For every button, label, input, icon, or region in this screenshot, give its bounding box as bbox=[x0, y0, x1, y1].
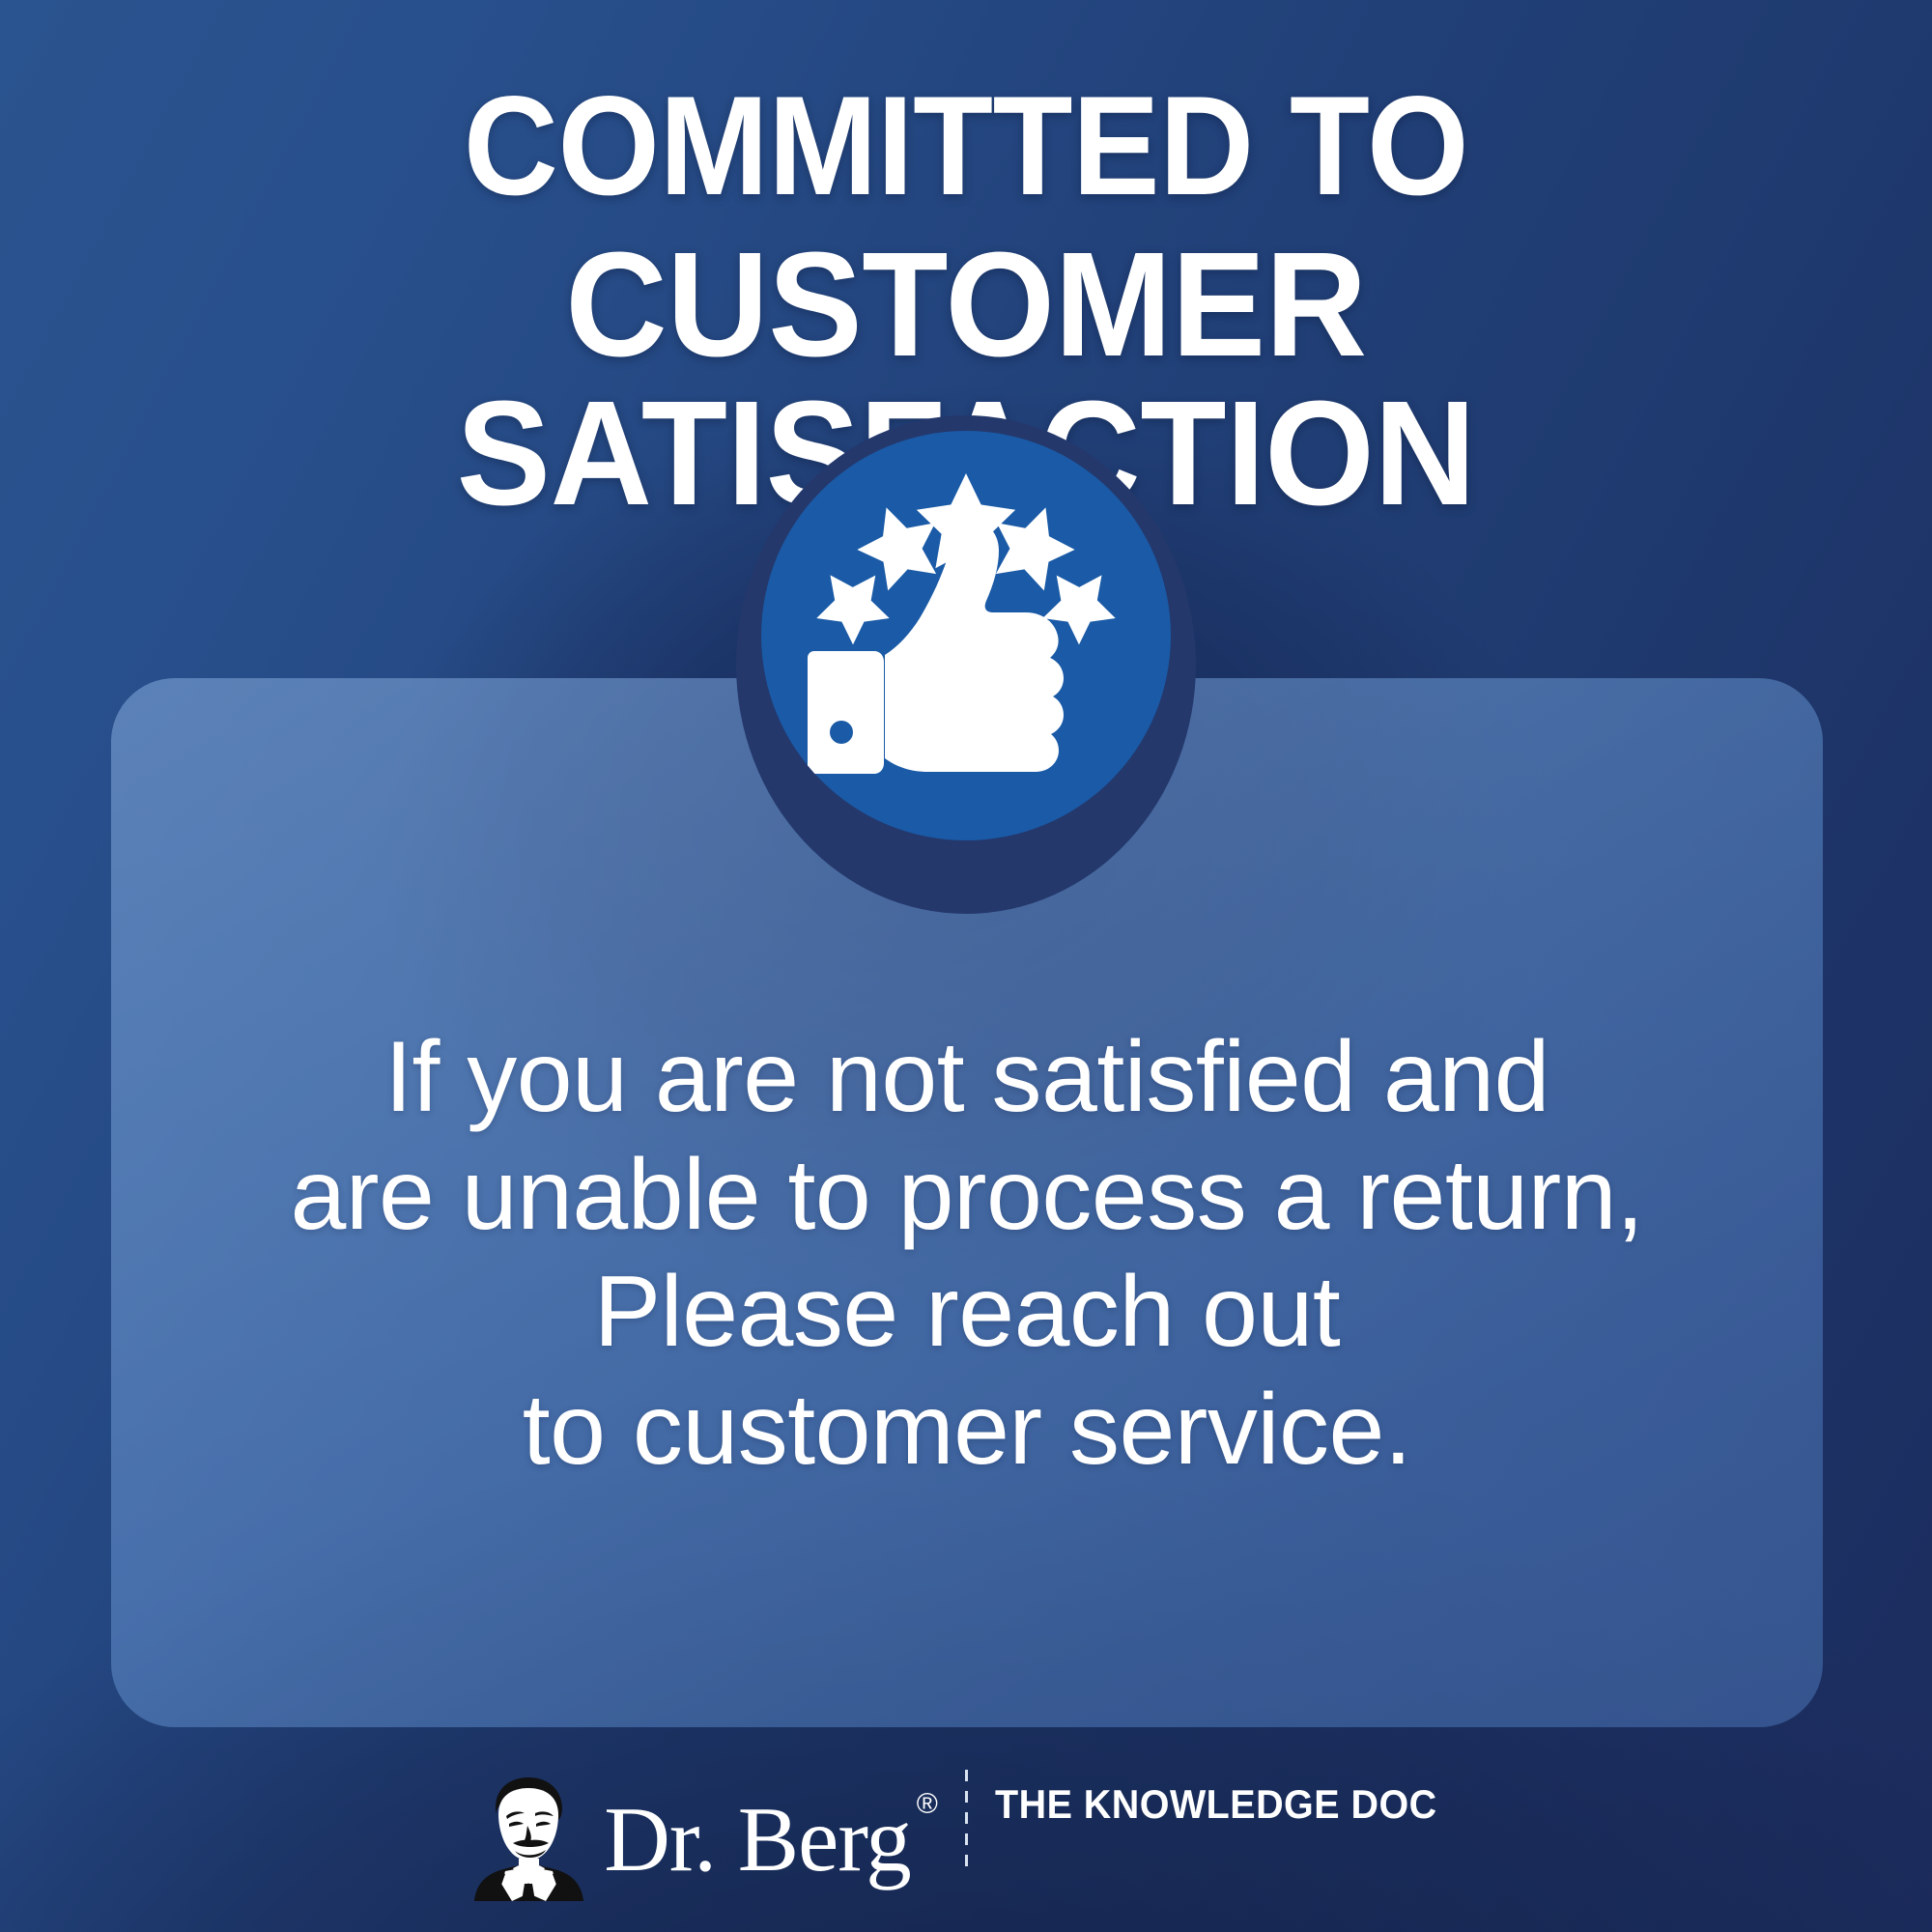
body-line-3: Please reach out bbox=[111, 1254, 1823, 1372]
brand-tagline: THE KNOWLEDGE DOC bbox=[995, 1781, 1437, 1828]
thumbs-up-five-stars-icon bbox=[761, 431, 1171, 840]
brand-wordmark: Dr. Berg® bbox=[604, 1794, 932, 1886]
body-line-4: to customer service. bbox=[111, 1372, 1823, 1490]
body-line-2: are unable to process a return, bbox=[111, 1137, 1823, 1255]
registered-trademark-icon: ® bbox=[917, 1788, 938, 1820]
footer-divider bbox=[965, 1770, 968, 1870]
dr-berg-portrait-icon bbox=[467, 1776, 590, 1903]
poster-canvas: COMMITTED TO CUSTOMER SATISFACTION bbox=[0, 0, 1932, 1932]
body-line-1: If you are not satisfied and bbox=[111, 1019, 1823, 1137]
headline-line-1: COMMITTED TO bbox=[68, 75, 1864, 216]
brand-name: Dr. Berg bbox=[604, 1788, 910, 1890]
body-copy: If you are not satisfied and are unable … bbox=[111, 1019, 1823, 1490]
satisfaction-badge bbox=[761, 431, 1171, 840]
brand-footer: Dr. Berg® THE KNOWLEDGE DOC bbox=[0, 1776, 1932, 1903]
